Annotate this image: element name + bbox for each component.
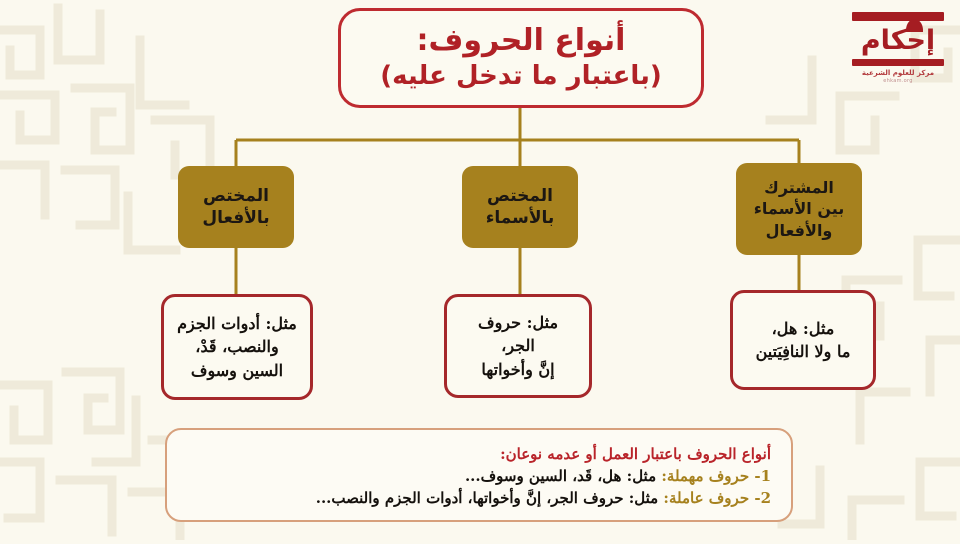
category-box-specific-to-verbs[interactable]: المختصبالأفعال — [178, 166, 294, 248]
logo-wordmark: إحكام — [851, 23, 945, 58]
summary-item-1-number: 1- — [754, 467, 771, 485]
diagram-title-box: أنواع الحروف: (باعتبار ما تدخل عليه) — [338, 8, 704, 108]
logo-url: ehkam.org — [883, 78, 912, 84]
logo-top-bar — [852, 12, 944, 21]
logo-subtitle: مركز للعلوم الشرعية — [862, 69, 934, 77]
logo-word-text: إحكام — [861, 25, 935, 56]
category-box-shared-nouns-verbs[interactable]: المشتركبين الأسماءوالأفعال — [736, 163, 862, 255]
summary-item-1-value: مثل: هل، قَد، السين وسوف... — [465, 467, 656, 485]
summary-note-box: أنواع الحروف باعتبار العمل أو عدمه نوعان… — [165, 428, 793, 522]
summary-item-2-key: حروف عاملة: — [663, 489, 749, 507]
example-box-nouns: مثل: حروفالجر،إنَّ وأخواتها — [444, 294, 592, 398]
brand-logo: إحكام مركز للعلوم الشرعية ehkam.org — [846, 12, 950, 84]
summary-item-2: 2- حروف عاملة: مثل: حروف الجر، إنَّ وأخو… — [187, 488, 771, 508]
summary-item-2-number: 2- — [754, 489, 771, 507]
summary-heading: أنواع الحروف باعتبار العمل أو عدمه نوعان… — [187, 445, 771, 465]
logo-bottom-bar — [852, 59, 944, 66]
diagram-title-line-1: أنواع الحروف: — [417, 24, 626, 59]
summary-item-1: 1- حروف مهملة: مثل: هل، قَد، السين وسوف.… — [187, 466, 771, 486]
summary-item-2-value: مثل: حروف الجر، إنَّ وأخواتها، أدوات الج… — [316, 489, 658, 507]
example-box-shared: مثل: هل،ما ولا النافِيَتين — [730, 290, 876, 390]
example-box-verbs: مثل: أدوات الجزموالنصب، قَدْ،السين وسوف — [161, 294, 313, 400]
summary-item-1-key: حروف مهملة: — [661, 467, 749, 485]
diagram-title-line-2: (باعتبار ما تدخل عليه) — [380, 61, 662, 92]
category-box-specific-to-nouns[interactable]: المختصبالأسماء — [462, 166, 578, 248]
